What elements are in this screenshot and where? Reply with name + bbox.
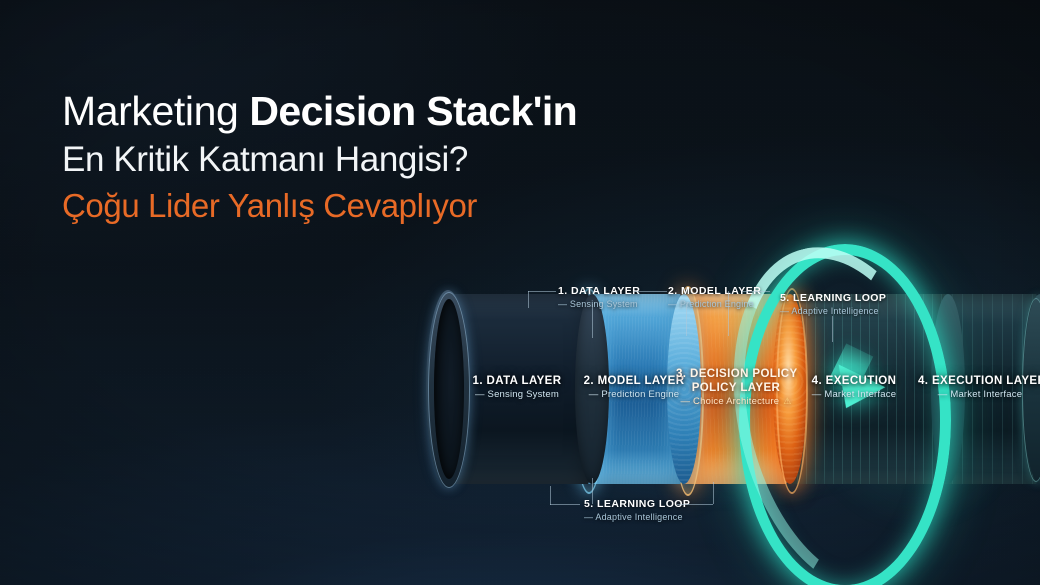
leader-line	[677, 504, 713, 505]
headline-line-3: Çoğu Lider Yanlış Cevaplıyor	[62, 183, 842, 229]
leader-line	[832, 316, 833, 342]
leader-line	[686, 304, 687, 336]
banner-canvas: Marketing Decision Stack'in En Kritik Ka…	[0, 0, 1040, 585]
headline-line-1-plain: Marketing	[62, 88, 249, 134]
leader-line	[550, 486, 551, 505]
headline-line-1: Marketing Decision Stack'in	[62, 86, 842, 136]
leader-line	[742, 291, 770, 292]
leader-line	[713, 482, 714, 504]
leader-line	[550, 504, 580, 505]
callout-subtitle: — Adaptive Intelligence	[584, 512, 690, 522]
leader-line	[528, 291, 556, 292]
headline-line-2: En Kritik Katmanı Hangisi?	[62, 136, 842, 183]
leader-line	[592, 304, 593, 338]
decision-stack-diagram: 1. DATA LAYER — Sensing System 2. MODEL …	[432, 236, 1040, 585]
leader-line	[592, 478, 593, 504]
callout-title: 5. LEARNING LOOP	[584, 498, 690, 511]
callout-top-learning-loop: 5. LEARNING LOOP — Adaptive Intelligence	[780, 292, 886, 316]
headline-block: Marketing Decision Stack'in En Kritik Ka…	[62, 86, 842, 229]
callout-title: 1. DATA LAYER	[558, 285, 640, 298]
callout-top-model-layer: 2. MODEL LAYER — Prediction Engine	[668, 285, 761, 309]
callout-subtitle: — Sensing System	[558, 299, 640, 309]
pipe-left-mouth-rim	[428, 292, 470, 488]
callout-subtitle: — Prediction Engine	[668, 299, 761, 309]
headline-line-1-bold: Decision Stack'in	[249, 88, 577, 134]
callout-bottom-learning-loop: 5. LEARNING LOOP — Adaptive Intelligence	[584, 498, 690, 522]
callout-title: 5. LEARNING LOOP	[780, 292, 886, 305]
segment-cap	[667, 294, 701, 484]
callout-subtitle: — Adaptive Intelligence	[780, 306, 886, 316]
leader-line	[728, 291, 729, 336]
leader-line	[633, 291, 667, 292]
callout-top-data-layer: 1. DATA LAYER — Sensing System	[558, 285, 640, 309]
leader-line	[528, 291, 529, 308]
